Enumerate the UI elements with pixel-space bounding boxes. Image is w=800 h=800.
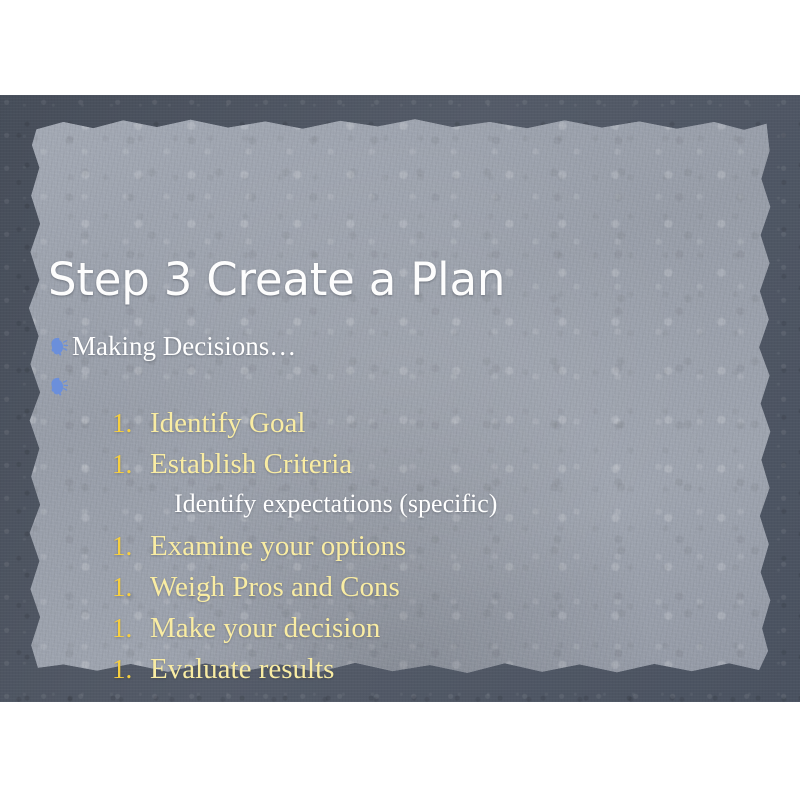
list-item-label: Identify Goal <box>150 407 305 440</box>
decision-steps-list: 1. Identify Goal 1. Establish Criteria 1… <box>112 407 406 694</box>
list-item-number: 1. <box>112 654 150 685</box>
list-item: 1. Evaluate results <box>112 653 406 694</box>
page-title: Step 3 Create a Plan <box>48 253 505 306</box>
list-item-number: 1. <box>112 408 150 439</box>
list-item-label: Evaluate results <box>150 653 334 686</box>
list-item-label: Establish Criteria <box>150 448 352 481</box>
speaking-head-icon <box>48 376 68 398</box>
list-item-label: Examine your options <box>150 530 406 563</box>
bullet-item-label: Making Decisions… <box>72 331 296 362</box>
list-item-label: Make your decision <box>150 612 380 645</box>
list-item-number: 1. <box>112 531 150 562</box>
bullet-item-making-decisions: Making Decisions… <box>48 331 296 362</box>
list-item-number: 1. <box>112 613 150 644</box>
bullet-item-empty <box>48 373 72 395</box>
list-item: 1. Make your decision <box>112 612 406 653</box>
list-item-number: 1. <box>112 449 150 480</box>
slide-content: Step 3 Create a Plan Making Decisions… <box>0 95 800 702</box>
list-item: 1. Establish Criteria <box>112 448 406 489</box>
list-item-label: Weigh Pros and Cons <box>150 571 400 604</box>
sub-note-text: Identify expectations (specific) <box>174 489 497 519</box>
list-item: 1. Identify Goal <box>112 407 406 448</box>
presentation-slide: Step 3 Create a Plan Making Decisions… <box>0 95 800 702</box>
list-item: 1. Weigh Pros and Cons <box>112 571 406 612</box>
speaking-head-icon <box>48 336 68 358</box>
list-item-number: 1. <box>112 572 150 603</box>
list-item: 1. Examine your options <box>112 530 406 571</box>
slide-canvas: Step 3 Create a Plan Making Decisions… <box>0 0 800 800</box>
